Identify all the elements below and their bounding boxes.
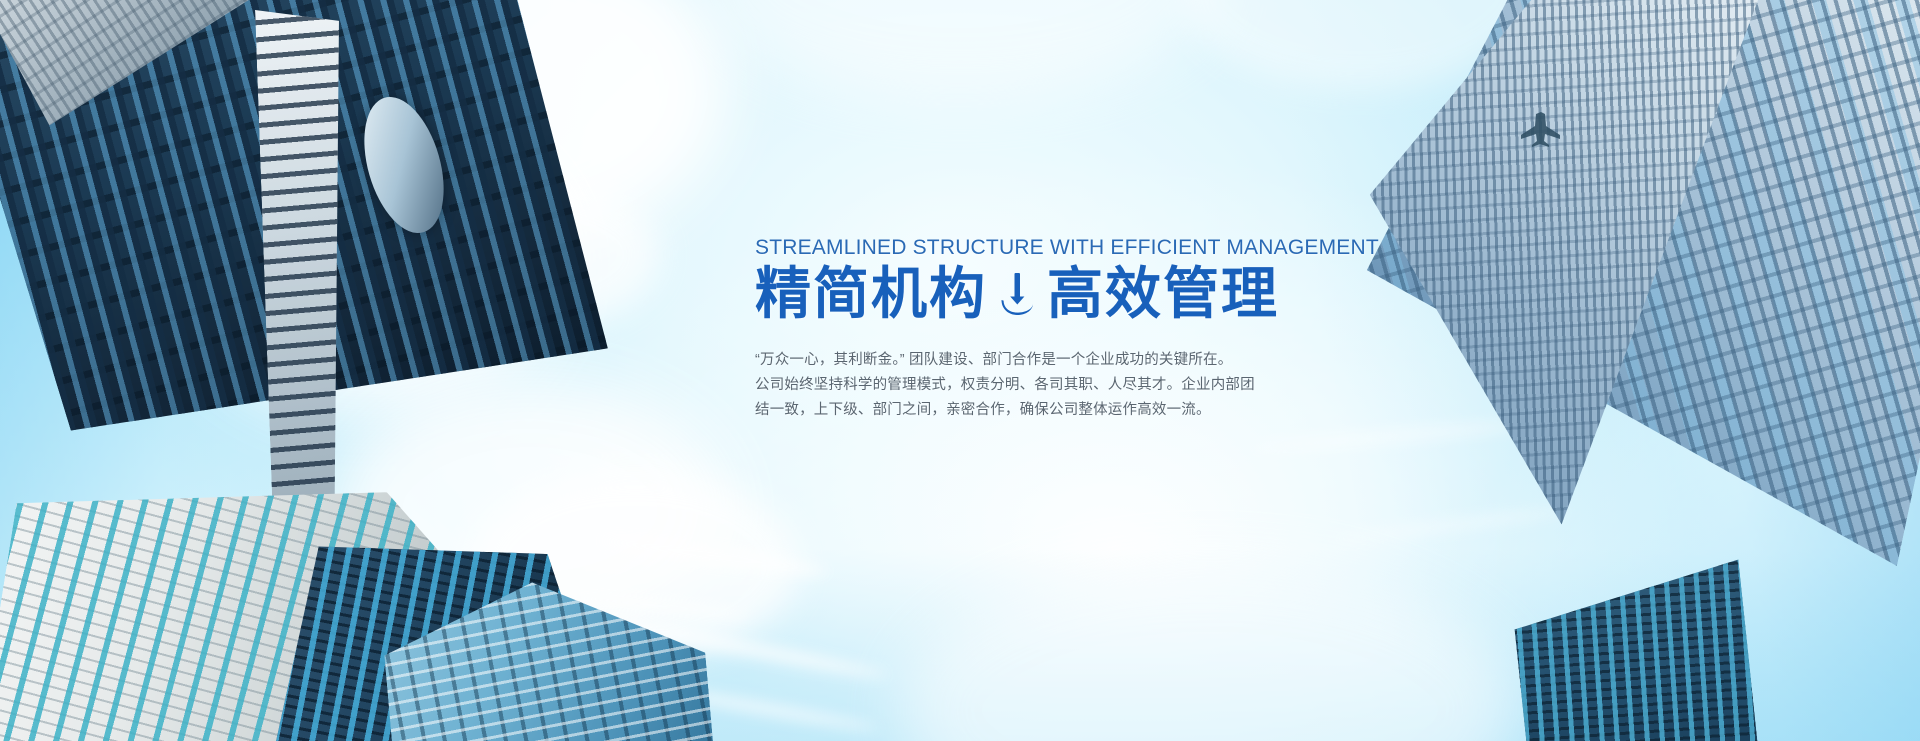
company-mark-icon <box>997 270 1037 318</box>
banner-headline: 精简机构 高效管理 <box>755 263 1285 326</box>
banner-paragraph: “万众一心，其利断金。” 团队建设、部门合作是一个企业成功的关键所在。 公司始终… <box>755 348 1285 423</box>
airplane-icon <box>1512 108 1568 148</box>
paragraph-line: 公司始终坚持科学的管理模式，权责分明、各司其职、人尽其才。企业内部团 <box>755 373 1285 398</box>
banner-text-block: STREAMLINED STRUCTURE WITH EFFICIENT MAN… <box>755 236 1285 423</box>
headline-left-text: 精简机构 <box>755 263 987 326</box>
paragraph-line: “万众一心，其利断金。” 团队建设、部门合作是一个企业成功的关键所在。 <box>755 348 1285 373</box>
headline-right-text: 高效管理 <box>1047 263 1279 326</box>
banner-eyebrow: STREAMLINED STRUCTURE WITH EFFICIENT MAN… <box>755 236 1285 259</box>
hero-banner: STREAMLINED STRUCTURE WITH EFFICIENT MAN… <box>0 0 1920 741</box>
paragraph-line: 结一致，上下级、部门之间，亲密合作，确保公司整体运作高效一流。 <box>755 398 1285 423</box>
